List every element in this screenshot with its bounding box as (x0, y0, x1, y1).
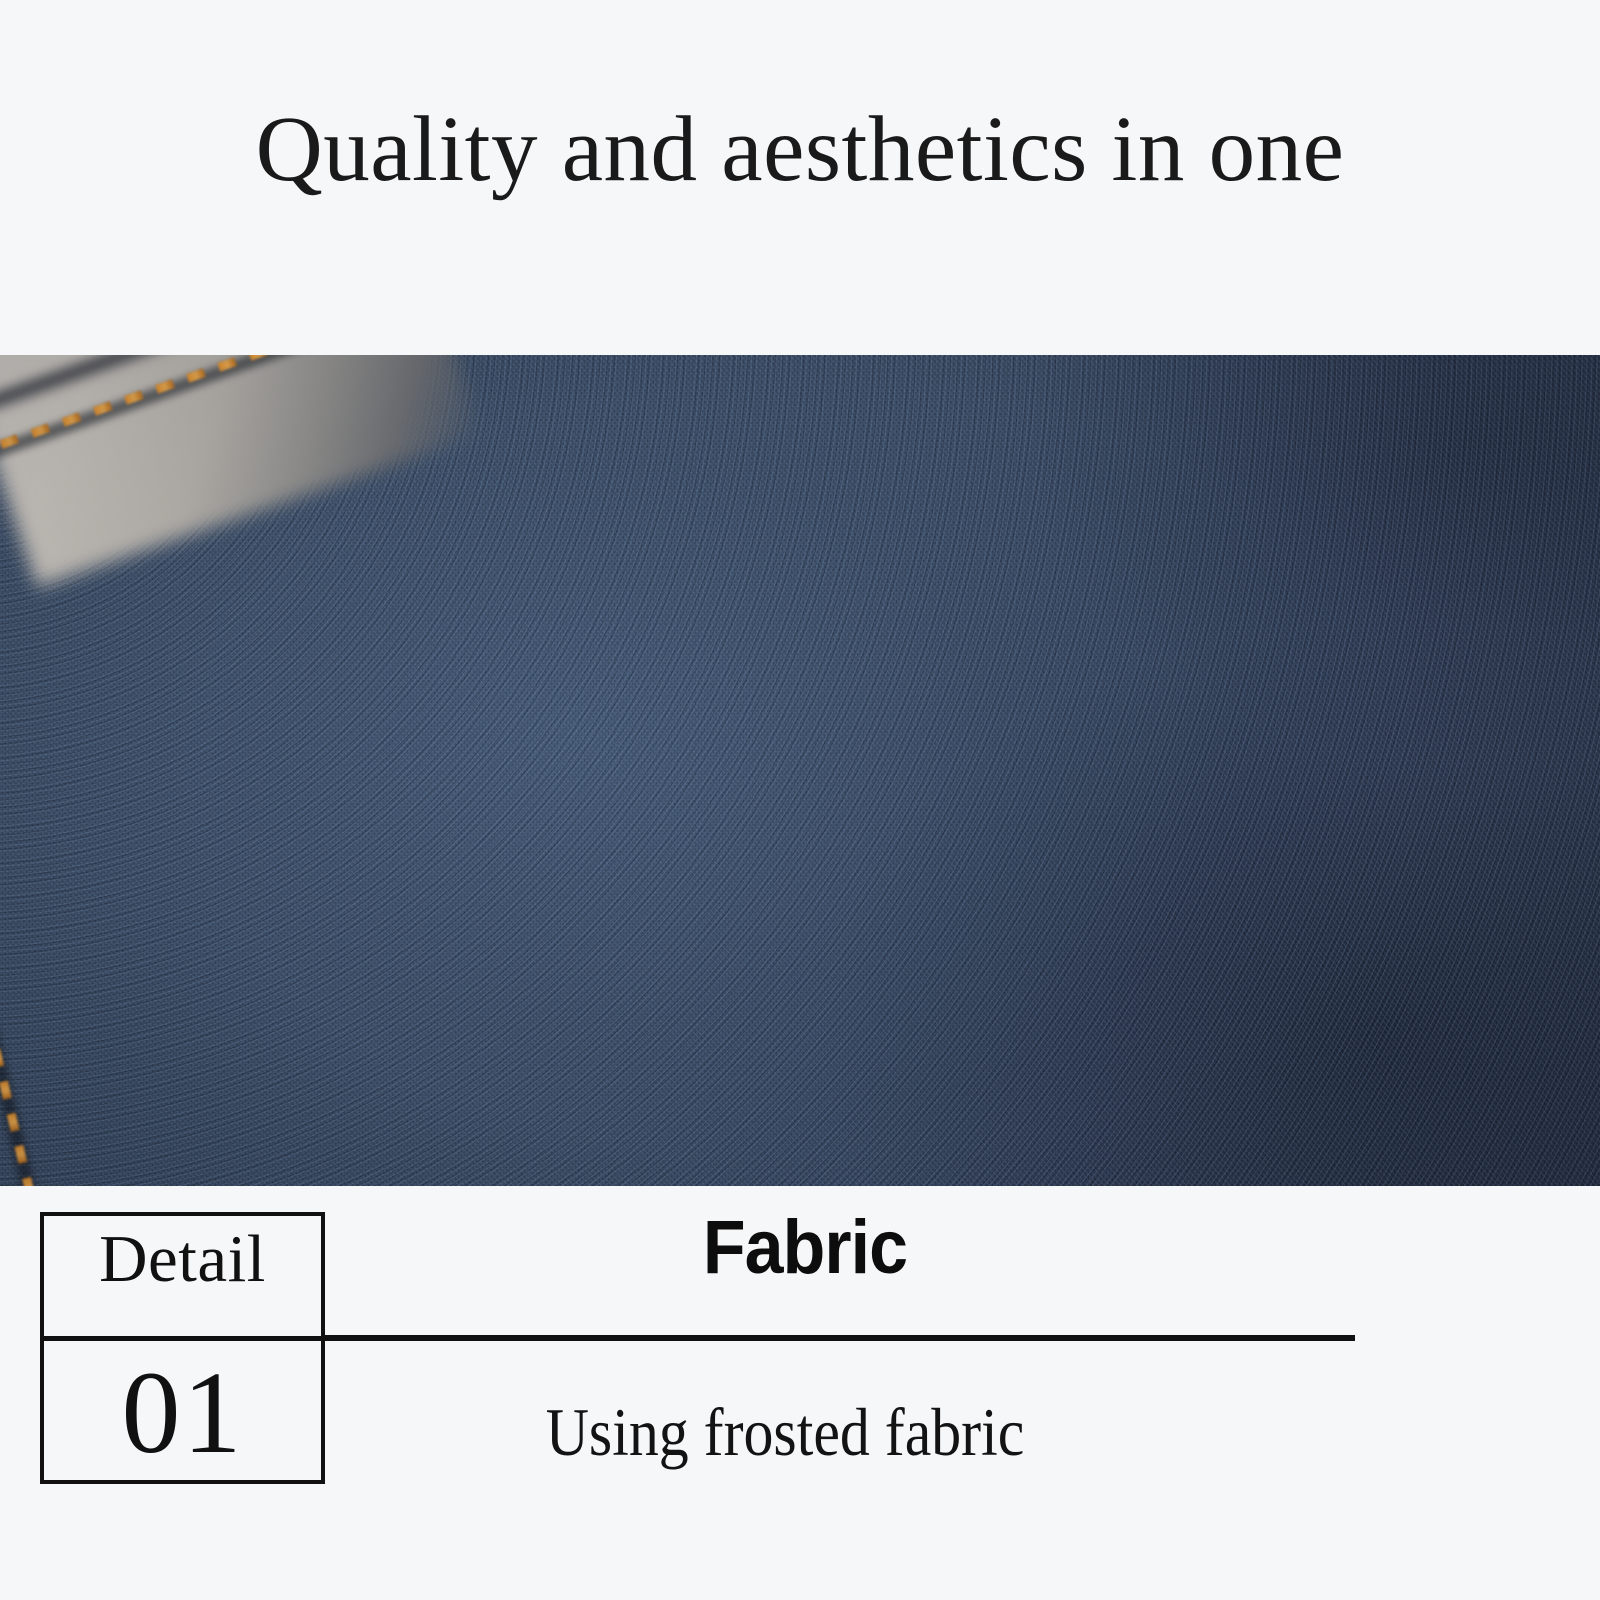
detail-number-box: Detail 01 (40, 1212, 325, 1484)
detail-number: 01 (122, 1354, 244, 1472)
detail-number-cell: 01 (44, 1341, 321, 1484)
detail-label-cell: Detail (44, 1216, 321, 1336)
page-title: Quality and aesthetics in one (0, 100, 1600, 200)
section-subtext: Using frosted fabric (380, 1392, 1190, 1474)
product-detail-page: Quality and aesthetics in one Detail 01 … (0, 0, 1600, 1600)
section-heading: Fabric (363, 1204, 1246, 1291)
detail-card: Detail 01 Fabric Using frosted fabric (0, 1186, 1600, 1600)
detail-label: Detail (99, 1216, 266, 1293)
section-heading-rule (325, 1335, 1355, 1341)
header-band: Quality and aesthetics in one (0, 0, 1600, 355)
fabric-closeup-photo (0, 355, 1600, 1186)
